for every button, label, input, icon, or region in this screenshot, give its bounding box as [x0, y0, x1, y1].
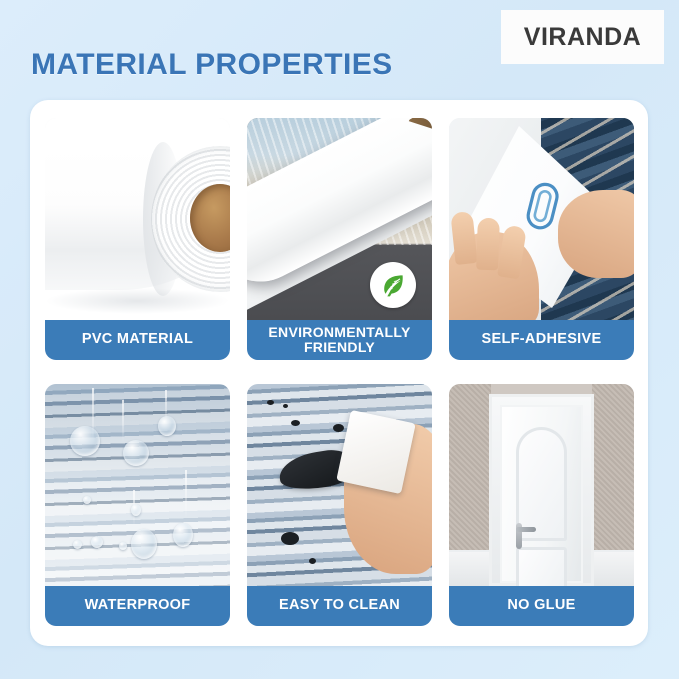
- eco-roll-tip: [407, 118, 432, 151]
- stain-dot-3: [291, 420, 300, 426]
- feature-label-pvc-material: PVC MATERIAL: [45, 320, 230, 360]
- feature-label-waterproof: WATERPROOF: [45, 586, 230, 626]
- feature-label-no-glue: NO GLUE: [449, 586, 634, 626]
- infographic-page: VIRANDA MATERIAL PROPERTIES PVC MATERIAL: [0, 0, 679, 679]
- brand-logo: VIRANDA: [501, 10, 664, 64]
- no-glue-image: [449, 384, 634, 586]
- feature-tile-waterproof[interactable]: WATERPROOF: [45, 384, 230, 626]
- page-title: MATERIAL PROPERTIES: [31, 48, 393, 82]
- stain-dot-6: [309, 558, 316, 564]
- leaf-icon: [370, 262, 416, 308]
- waterproof-image: [45, 384, 230, 586]
- feature-tile-no-glue[interactable]: NO GLUE: [449, 384, 634, 626]
- water-droplet-10: [131, 504, 141, 516]
- water-droplet-5: [173, 523, 193, 547]
- feature-tile-environmentally-friendly[interactable]: ENVIRONMENTALLY FRIENDLY: [247, 118, 432, 360]
- baseboard-left: [449, 550, 491, 586]
- features-grid: PVC MATERIAL: [45, 118, 635, 626]
- door-frame: [489, 394, 594, 586]
- feature-tile-self-adhesive[interactable]: SELF-ADHESIVE: [449, 118, 634, 360]
- droplet-trail-4: [185, 470, 187, 518]
- water-droplet-4: [131, 529, 157, 559]
- water-droplet-7: [91, 536, 103, 548]
- finger-2: [476, 218, 500, 271]
- stain-dot-4: [333, 424, 344, 432]
- feature-label-easy-to-clean: EASY TO CLEAN: [247, 586, 432, 626]
- pvc-roll-shadow: [45, 288, 230, 314]
- self-adhesive-image: [449, 118, 634, 320]
- door-leaf: [500, 405, 583, 583]
- water-droplet-2: [123, 440, 149, 466]
- feature-label-self-adhesive: SELF-ADHESIVE: [449, 320, 634, 360]
- baseboard-right: [592, 550, 634, 586]
- stain-dot-1: [267, 400, 274, 405]
- water-droplet-9: [83, 496, 91, 504]
- door-handle-lever: [516, 527, 536, 532]
- pvc-roll-image: [45, 118, 230, 320]
- feature-tile-easy-to-clean[interactable]: EASY TO CLEAN: [247, 384, 432, 626]
- water-droplet-3: [158, 416, 176, 436]
- feature-tile-pvc-material[interactable]: PVC MATERIAL: [45, 118, 230, 360]
- feature-label-line1: ENVIRONMENTALLY: [268, 324, 410, 340]
- droplet-trail-2: [122, 400, 124, 442]
- water-droplet-6: [73, 540, 82, 549]
- eco-roll-image: [247, 118, 432, 320]
- brand-name: VIRANDA: [524, 23, 641, 52]
- door-panel-top: [516, 427, 567, 541]
- water-droplet-8: [119, 542, 127, 550]
- feature-label-line2: FRIENDLY: [304, 339, 375, 355]
- easy-to-clean-image: [247, 384, 432, 586]
- stain-dot-5: [281, 532, 299, 545]
- right-hand: [558, 190, 634, 278]
- feature-label-environmentally-friendly: ENVIRONMENTALLY FRIENDLY: [247, 320, 432, 360]
- water-droplet-1: [70, 426, 100, 456]
- door-panel-bottom: [516, 547, 567, 586]
- stain-dot-2: [283, 404, 288, 408]
